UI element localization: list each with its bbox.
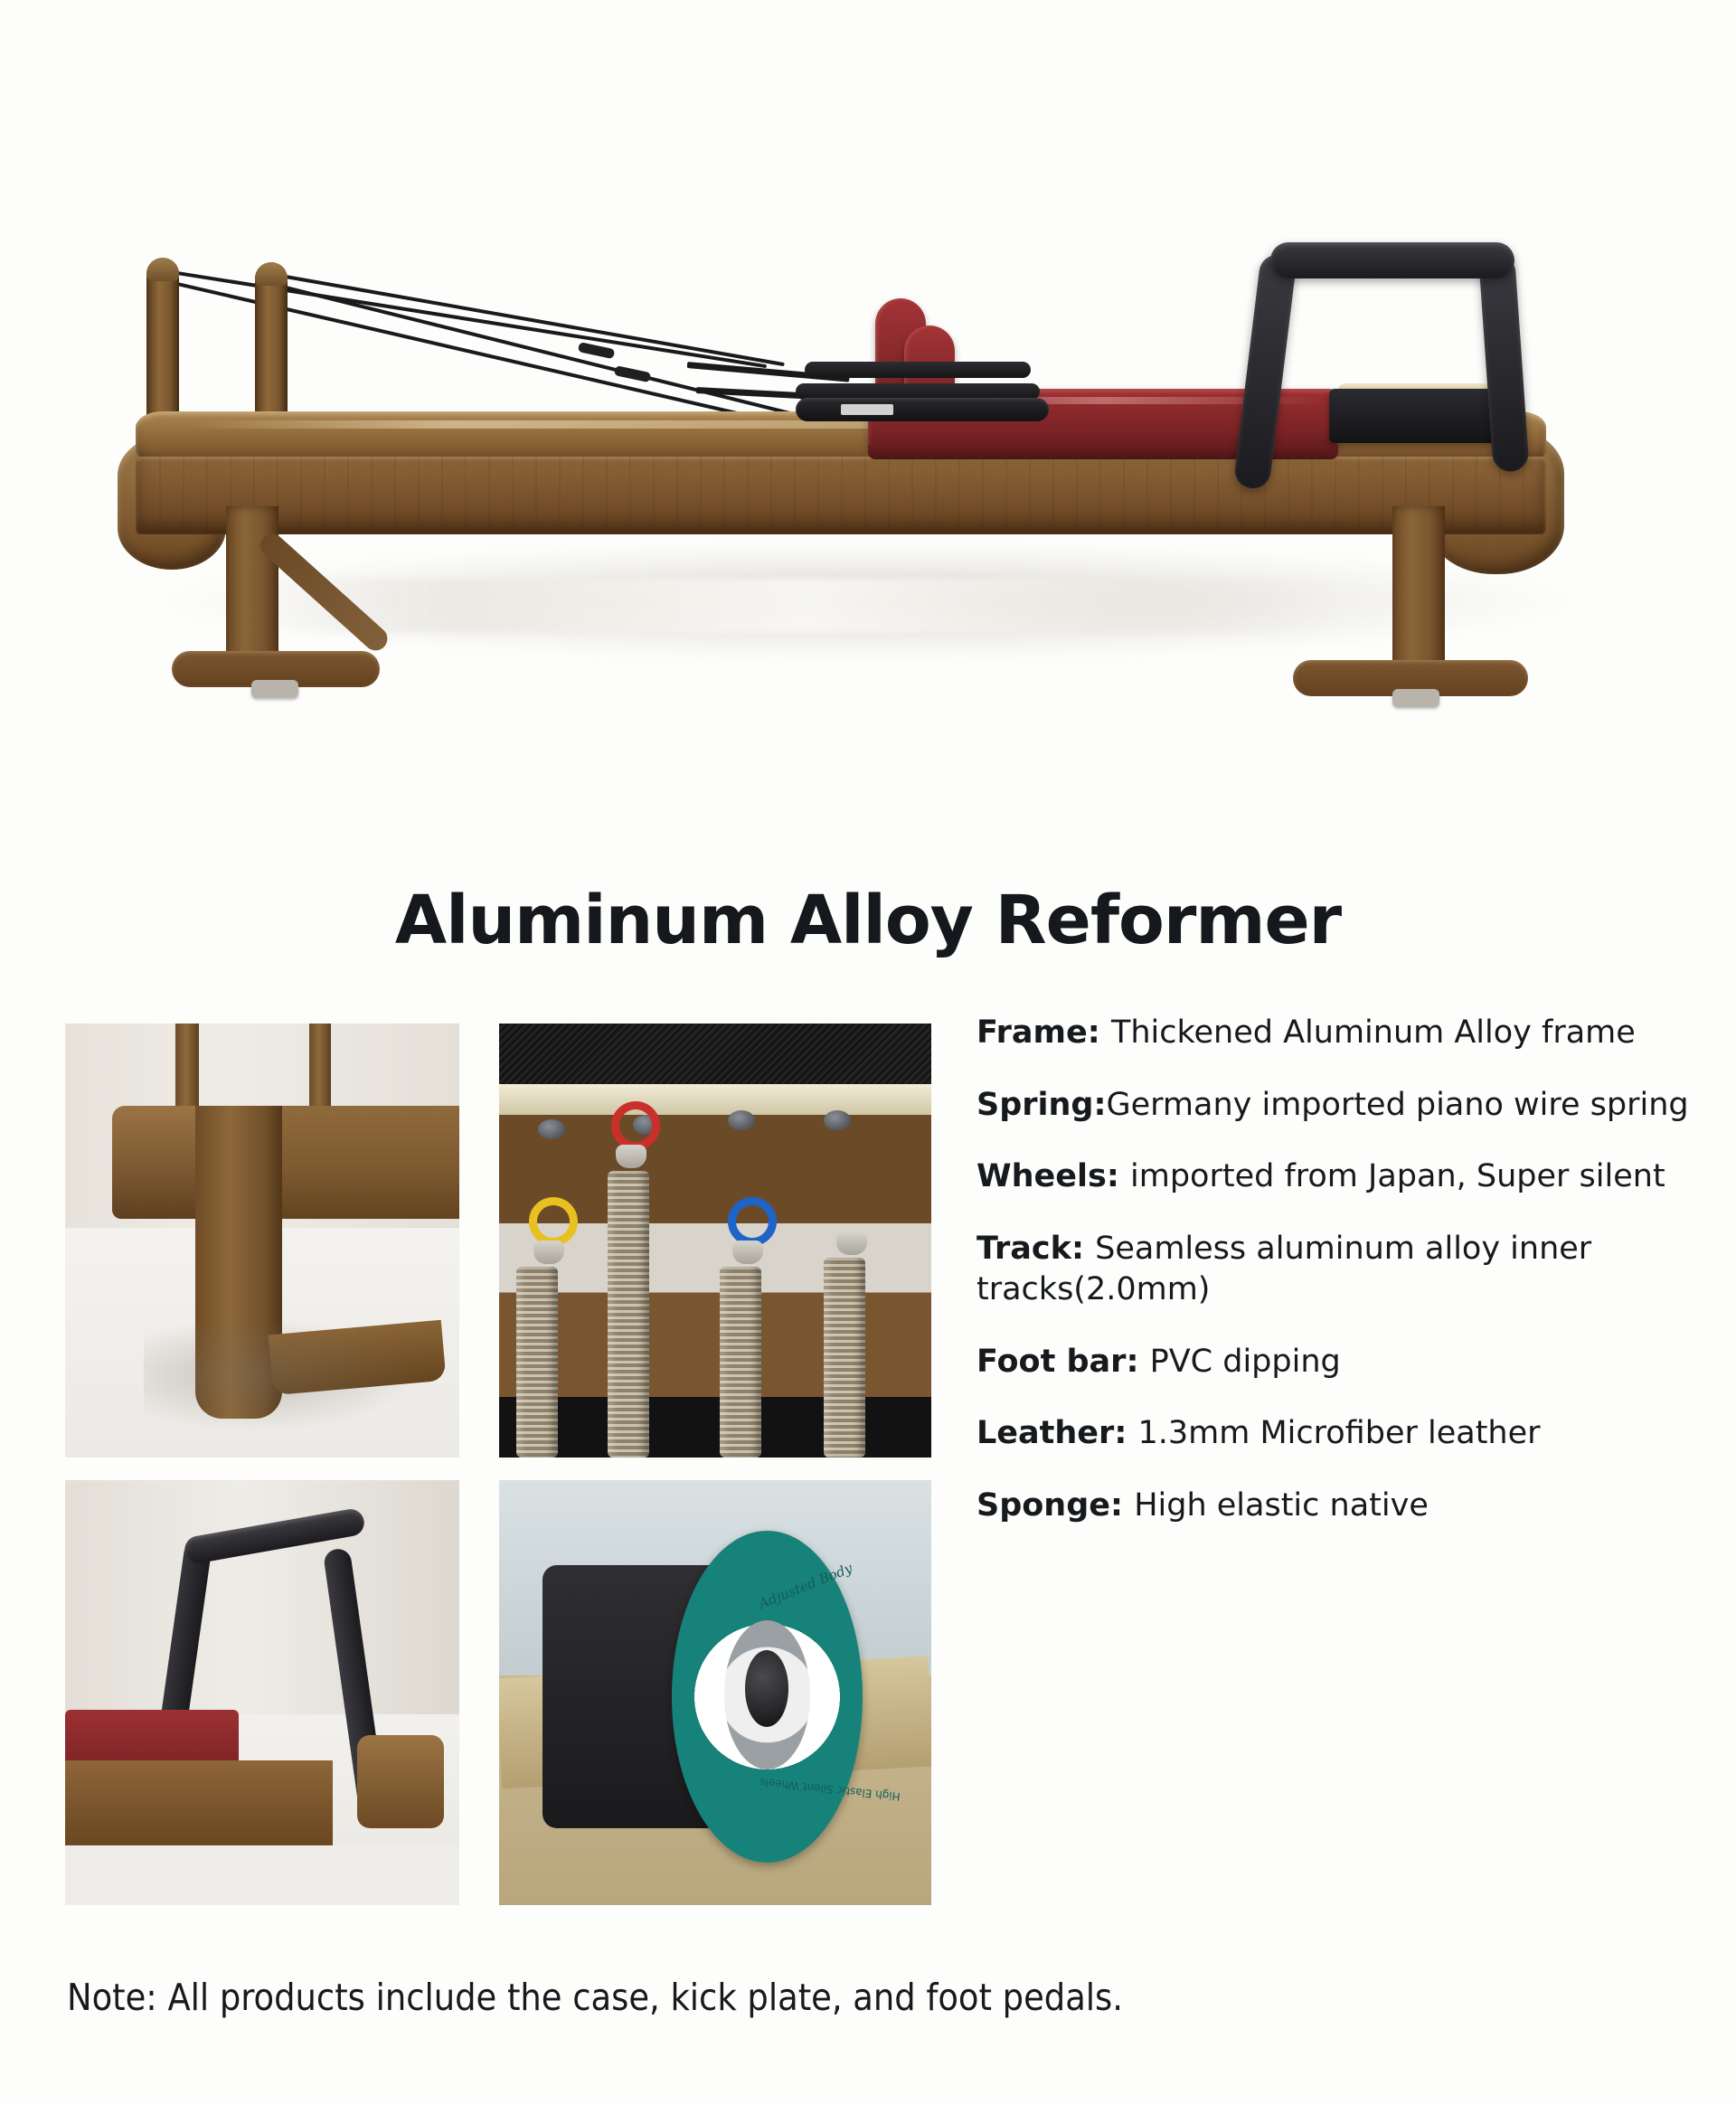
spring-hook-yellow: [529, 1197, 578, 1246]
content-section: Adjusted Body High Elastic Silent Wheels…: [0, 1013, 1736, 1926]
spec-spring: Spring:Germany imported piano wire sprin…: [976, 1085, 1691, 1127]
rope-upper-2: [286, 275, 785, 366]
frame-endcap: [112, 1106, 207, 1219]
thumbnail-foot-bar[interactable]: [65, 1480, 459, 1905]
brand-badge: [841, 404, 893, 415]
frame-beam: [282, 1106, 459, 1219]
frame-endcap: [357, 1735, 444, 1828]
rope-clip-1: [578, 342, 615, 359]
spec-list: Frame: Thickened Aluminum Alloy frame Sp…: [976, 1013, 1691, 1896]
spec-separator: :: [1071, 1231, 1095, 1267]
spring-2: [608, 1171, 649, 1458]
spec-label: Sponge: [976, 1487, 1110, 1524]
thumbnail-frame-leg[interactable]: [65, 1024, 459, 1458]
floor: [65, 1845, 459, 1905]
spring-hook-blue: [728, 1197, 777, 1246]
post-upper-right: [309, 1024, 331, 1106]
spec-track: Track: Seamless aluminum alloy inner tra…: [976, 1229, 1691, 1311]
spec-foot-bar: Foot bar: PVC dipping: [976, 1342, 1691, 1383]
felt-strip: [499, 1024, 931, 1089]
spring-1: [516, 1267, 558, 1458]
spec-label: Leather: [976, 1415, 1114, 1451]
spec-value: imported from Japan, Super silent: [1130, 1158, 1665, 1194]
wheel-axle: [745, 1650, 788, 1727]
spring-eyelet-3: [728, 1110, 755, 1130]
spring-eyelet-4: [824, 1110, 851, 1130]
page-title: Aluminum Alloy Reformer: [0, 882, 1736, 959]
spec-separator: :: [1114, 1415, 1137, 1451]
spring-3: [720, 1267, 761, 1458]
shoulder-post-right-cap: [255, 262, 288, 286]
spec-label: Wheels: [976, 1158, 1107, 1194]
spec-value: Thickened Aluminum Alloy frame: [1111, 1014, 1636, 1051]
spring-knob-2: [533, 1241, 564, 1264]
shadow: [144, 1318, 420, 1431]
note-text: Note: All products include the case, kic…: [67, 1976, 1604, 2019]
spec-label: Track: [976, 1231, 1071, 1267]
floor-highlight: [271, 579, 1338, 633]
post-upper-left: [175, 1024, 199, 1110]
thumbnail-springs[interactable]: [499, 1024, 931, 1458]
spec-value: Germany imported piano wire spring: [1107, 1087, 1689, 1123]
spec-separator: :: [1088, 1014, 1111, 1051]
rope-clip-2: [614, 365, 651, 382]
track-ledge: [499, 1084, 931, 1115]
wall-background: [65, 1480, 459, 1714]
thumbnail-grid: Adjusted Body High Elastic Silent Wheels: [65, 1024, 931, 1905]
spec-separator: :: [1110, 1487, 1134, 1524]
spec-frame: Frame: Thickened Aluminum Alloy frame: [976, 1013, 1691, 1054]
spec-separator: :: [1094, 1087, 1107, 1123]
foot-bar-crossbar: [1270, 242, 1514, 278]
floor-glide-right: [1392, 689, 1439, 707]
spec-separator: :: [1126, 1344, 1149, 1380]
spring-knob-3: [732, 1241, 763, 1264]
spec-leather: Leather: 1.3mm Microfiber leather: [976, 1413, 1691, 1455]
spec-wheels: Wheels: imported from Japan, Super silen…: [976, 1156, 1691, 1198]
spec-value: 1.3mm Microfiber leather: [1138, 1415, 1541, 1451]
spring-knob-4: [836, 1231, 867, 1255]
wheel-brand-bottom: High Elastic Silent Wheels: [759, 1776, 901, 1803]
reformer-illustration: [0, 0, 1736, 814]
shoulder-post-left-cap: [146, 258, 179, 281]
spring-hook-red: [611, 1101, 660, 1150]
foot-bar-left-arm: [1232, 253, 1297, 491]
spec-label: Spring: [976, 1087, 1094, 1123]
spec-label: Foot bar: [976, 1344, 1126, 1380]
thumbnail-wheel[interactable]: Adjusted Body High Elastic Silent Wheels: [499, 1480, 931, 1905]
floor-glide-left: [251, 680, 298, 698]
foot-bar-right-arm: [1478, 254, 1530, 473]
spec-value: High elastic native: [1134, 1487, 1429, 1524]
frame-rail: [65, 1760, 333, 1845]
spec-value: PVC dipping: [1150, 1344, 1341, 1380]
hero-product-image: [0, 0, 1736, 814]
strap-bar-upper: [805, 362, 1031, 378]
spec-sponge: Sponge: High elastic native: [976, 1486, 1691, 1527]
spring-eyelet-1: [538, 1119, 565, 1139]
product-detail-page: Aluminum Alloy Reformer: [0, 0, 1736, 2104]
spec-separator: :: [1107, 1158, 1130, 1194]
foot-bar: [1261, 242, 1514, 514]
spring-knob-1: [616, 1145, 646, 1168]
spring-4: [824, 1258, 865, 1458]
shoulder-block-bar: [796, 398, 1049, 421]
spec-label: Frame: [976, 1014, 1088, 1051]
